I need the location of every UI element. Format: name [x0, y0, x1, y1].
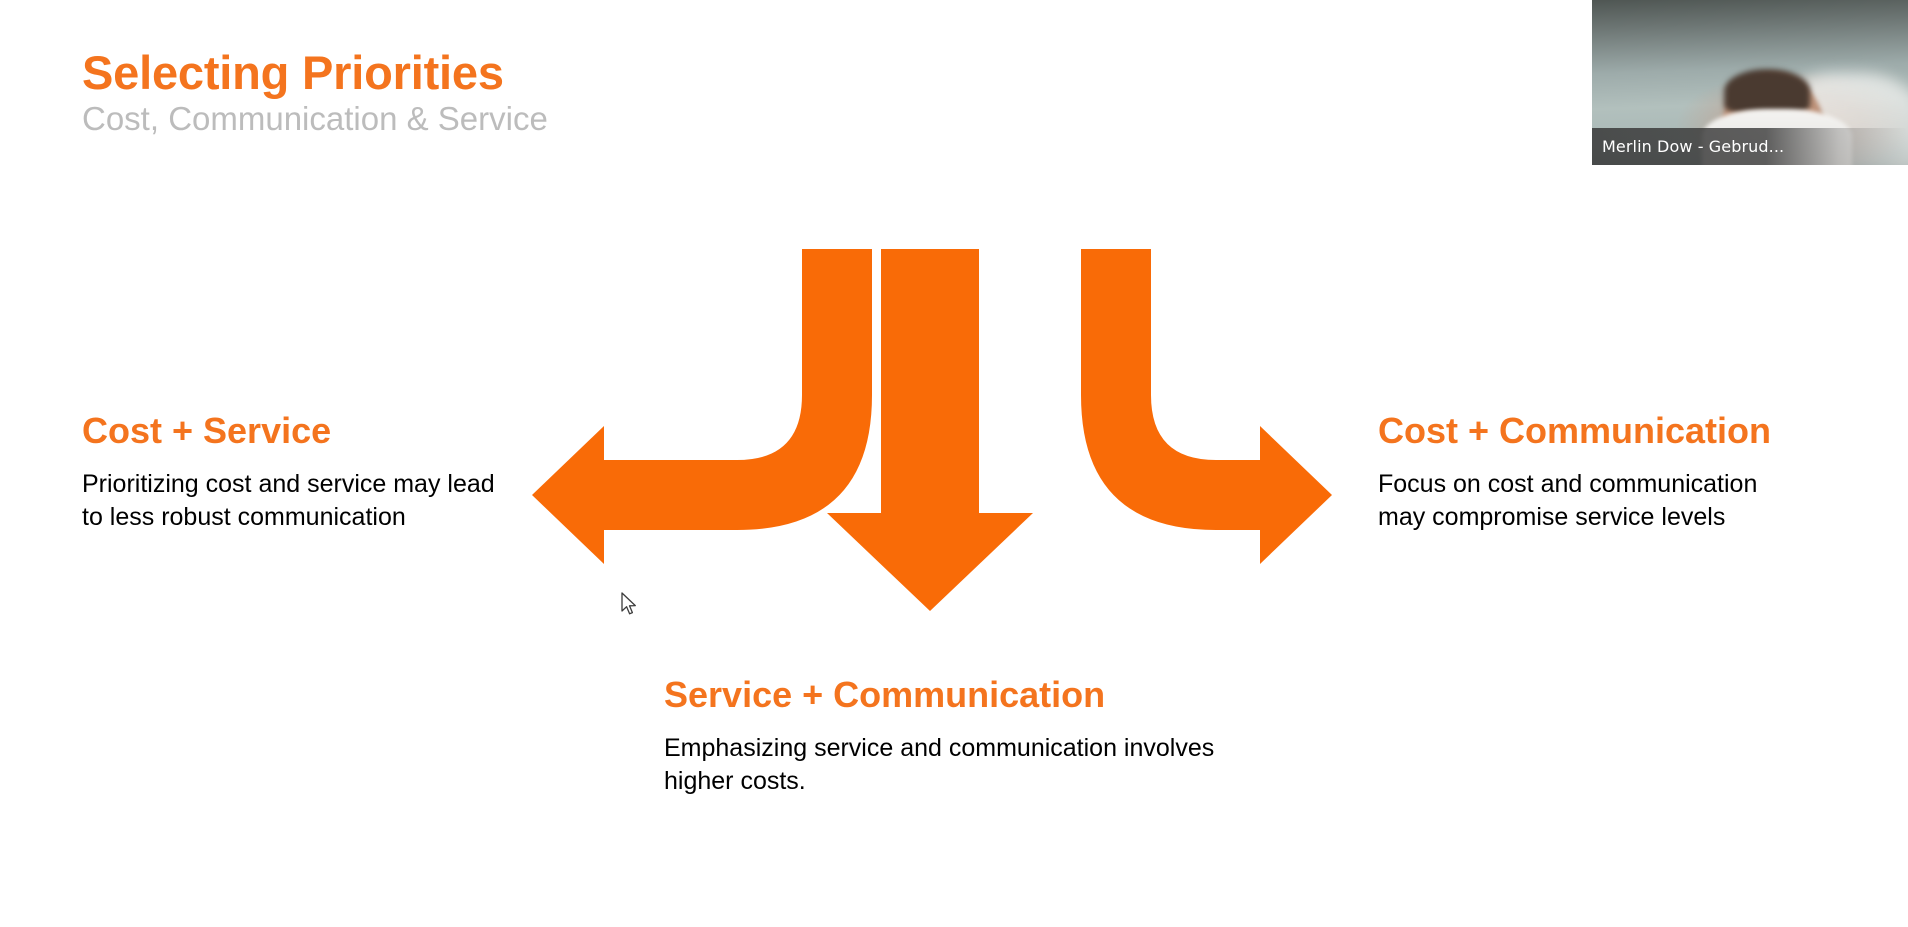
callout-left-body: Prioritizing cost and service may lead t…: [82, 468, 502, 533]
callout-service-communication: Service + Communication Emphasizing serv…: [664, 672, 1284, 797]
callout-left-heading: Cost + Service: [82, 408, 502, 454]
page-title: Selecting Priorities: [82, 48, 902, 98]
slide-header: Selecting Priorities Cost, Communication…: [82, 48, 902, 139]
three-branch-arrow-diagram: [520, 230, 1350, 630]
callout-bottom-body: Emphasizing service and communication in…: [664, 732, 1284, 797]
callout-right-heading: Cost + Communication: [1378, 408, 1808, 454]
video-participant-name: Merlin Dow - Gebrud...: [1602, 137, 1784, 156]
arrow-right-icon: [1062, 249, 1332, 564]
presentation-slide: Selecting Priorities Cost, Communication…: [0, 0, 1908, 927]
callout-right-body: Focus on cost and communication may comp…: [1378, 468, 1808, 533]
callout-cost-service: Cost + Service Prioritizing cost and ser…: [82, 408, 502, 533]
callout-cost-communication: Cost + Communication Focus on cost and c…: [1378, 408, 1808, 533]
video-participant-hair: [1724, 69, 1810, 113]
video-participant-tile[interactable]: Merlin Dow - Gebrud...: [1592, 0, 1908, 165]
callout-bottom-heading: Service + Communication: [664, 672, 1284, 718]
page-subtitle: Cost, Communication & Service: [82, 100, 902, 139]
arrow-left-icon: [532, 249, 872, 564]
